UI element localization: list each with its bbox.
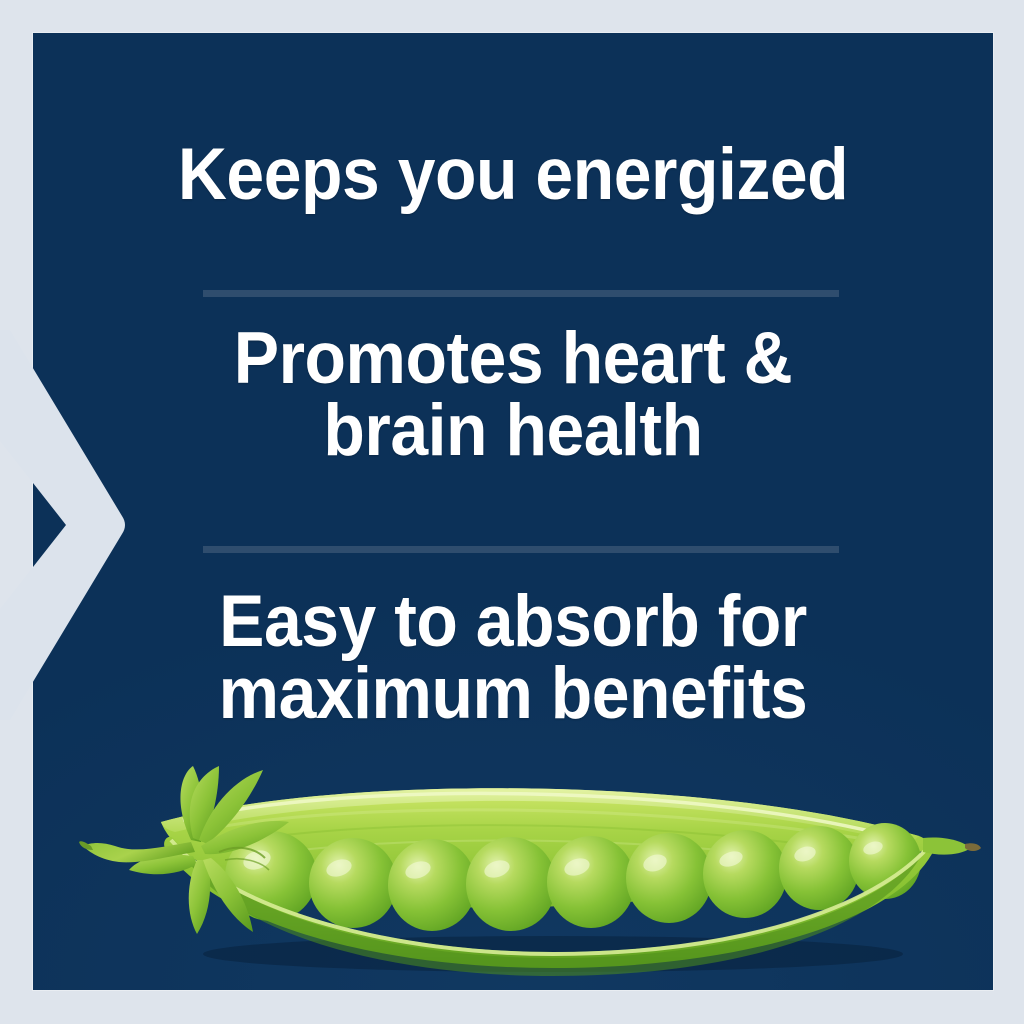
pea	[466, 837, 556, 931]
pea	[703, 830, 787, 918]
sepal	[203, 858, 253, 932]
pod-tip	[923, 837, 971, 854]
sepal	[129, 855, 197, 874]
divider-1	[203, 290, 839, 297]
pea-group	[225, 823, 921, 931]
pod-sepals	[129, 766, 289, 934]
pod-tip-dry	[965, 843, 981, 851]
benefit-heart-brain-line2: brain health	[67, 395, 960, 467]
pea	[388, 839, 476, 931]
pod-front-shell	[164, 837, 935, 968]
benefit-heart-brain: Promotes heart & brain health	[67, 323, 960, 466]
pod-inner-shell	[161, 788, 930, 907]
benefit-absorb: Easy to absorb for maximum benefits	[67, 586, 960, 729]
pea-highlights	[241, 839, 884, 881]
pea	[626, 833, 712, 923]
divider-2	[203, 546, 839, 553]
pea	[849, 823, 921, 899]
pod-tendril	[219, 848, 265, 858]
pea	[547, 836, 635, 928]
pod-tendril	[225, 859, 269, 870]
sepal	[199, 770, 263, 844]
benefit-absorb-line1: Easy to absorb for	[67, 586, 960, 658]
pea-pod-illustration	[33, 760, 993, 990]
benefit-energized: Keeps you energized	[67, 139, 960, 211]
navy-panel: Keeps you energized Promotes heart & bra…	[33, 33, 993, 990]
pod-front-shadow	[183, 852, 921, 976]
pod-rim-highlight	[183, 793, 905, 840]
sepal	[180, 766, 202, 842]
pea	[309, 838, 397, 928]
pod-texture	[203, 810, 903, 870]
pod-stem	[83, 842, 195, 862]
benefit-absorb-line2: maximum benefits	[67, 658, 960, 730]
pod-stem-tip	[79, 841, 93, 850]
sepal	[190, 766, 219, 842]
product-benefits-banner: Keeps you energized Promotes heart & bra…	[0, 0, 1024, 1024]
pod-front-rim	[171, 840, 931, 954]
pea-pod-svg	[33, 760, 993, 990]
benefit-heart-brain-line1: Promotes heart &	[67, 323, 960, 395]
pea	[779, 826, 859, 910]
pod-top-rim	[161, 788, 919, 842]
sepal	[189, 860, 210, 934]
sepal	[201, 821, 289, 854]
pea	[225, 831, 317, 921]
